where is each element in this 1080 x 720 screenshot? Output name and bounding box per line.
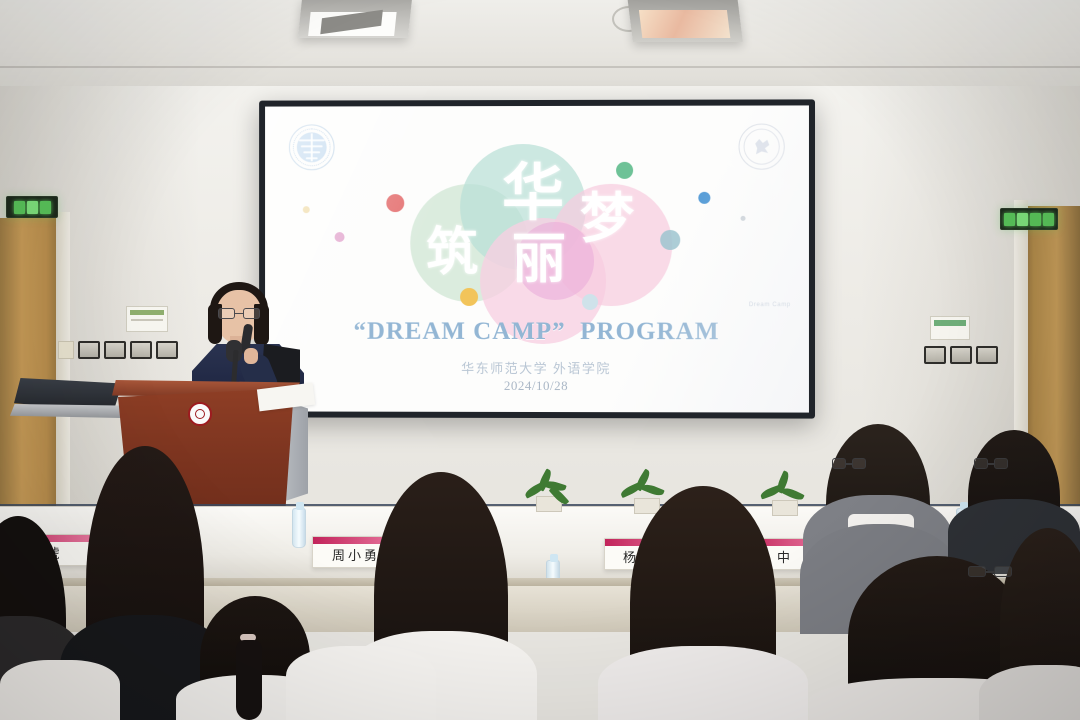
ceiling-projector-icon — [627, 0, 743, 42]
foreign-languages-seal-icon — [739, 124, 785, 170]
slide-surface: 筑 华 丽 梦 “DREAM CAMP” PROGRAM 华东师范大学 外语学院… — [265, 105, 809, 412]
front-row-shoulders — [286, 646, 436, 720]
light-switch-bank[interactable] — [924, 346, 998, 364]
ceiling-seam — [0, 66, 1080, 68]
decor-dot-lightblue — [582, 294, 598, 310]
wood-wall-panel-left — [0, 218, 62, 518]
ceiling — [0, 0, 1080, 92]
hero-character-meng: 梦 — [580, 174, 634, 253]
eyeglasses-icon — [968, 566, 1012, 577]
decor-dot-pink — [335, 232, 345, 242]
potted-plant — [620, 474, 666, 508]
wall-notice-plaque — [126, 306, 168, 332]
ponytail-tail — [236, 640, 262, 720]
photo-canvas: 筑 华 丽 梦 “DREAM CAMP” PROGRAM 华东师范大学 外语学院… — [0, 0, 1080, 720]
university-crest-icon — [188, 402, 212, 426]
ecnu-seal-icon — [289, 124, 335, 170]
potted-plant — [758, 476, 804, 510]
slide-title: “DREAM CAMP” PROGRAM — [265, 318, 809, 347]
light-switch-bank[interactable] — [78, 341, 178, 359]
decor-dot-green — [616, 162, 633, 179]
eyeglasses-icon — [974, 458, 1008, 469]
hero-character-li: 丽 — [512, 214, 566, 293]
eyeglasses-icon — [832, 458, 866, 469]
attendee-right-woman — [630, 486, 776, 720]
slide-title-quote-open: “ — [353, 318, 366, 345]
potted-plant — [524, 472, 570, 506]
decor-dot-yellow — [460, 288, 478, 306]
wall-pilaster-left — [56, 212, 70, 524]
water-bottle — [292, 508, 306, 548]
slide-title-main: DREAM CAMP — [367, 318, 552, 345]
hero-character-zhu: 筑 — [426, 210, 478, 285]
recessed-ceiling-light-icon — [298, 0, 412, 38]
slide-title-quote-close: ” — [552, 318, 566, 345]
nameplate-text: 中 — [777, 547, 793, 566]
wall-notice-plaque — [930, 316, 970, 340]
exit-sign-icon — [1000, 208, 1058, 230]
exit-sign-icon — [6, 196, 58, 218]
slide-watermark: Dream Camp — [749, 302, 791, 308]
decor-dot-slate — [660, 230, 680, 250]
decor-dot-red — [386, 194, 404, 212]
slide-subtitle: 华东师范大学 外语学院 — [265, 358, 809, 378]
front-row-shoulders — [0, 660, 120, 720]
presenter-laptop-base — [10, 404, 126, 418]
decor-dot-cream — [303, 206, 310, 213]
projection-screen: 筑 华 丽 梦 “DREAM CAMP” PROGRAM 华东师范大学 外语学院… — [259, 99, 815, 418]
nameplate-text: 周小勇 — [332, 545, 380, 564]
slide-title-second: PROGRAM — [580, 318, 719, 345]
slide-date: 2024/10/28 — [265, 378, 809, 395]
card-reader[interactable] — [58, 341, 74, 359]
decor-dot-grey — [741, 216, 746, 221]
eyeglasses-icon — [218, 308, 260, 319]
presenter — [186, 282, 322, 398]
decor-dot-blue — [698, 192, 710, 204]
